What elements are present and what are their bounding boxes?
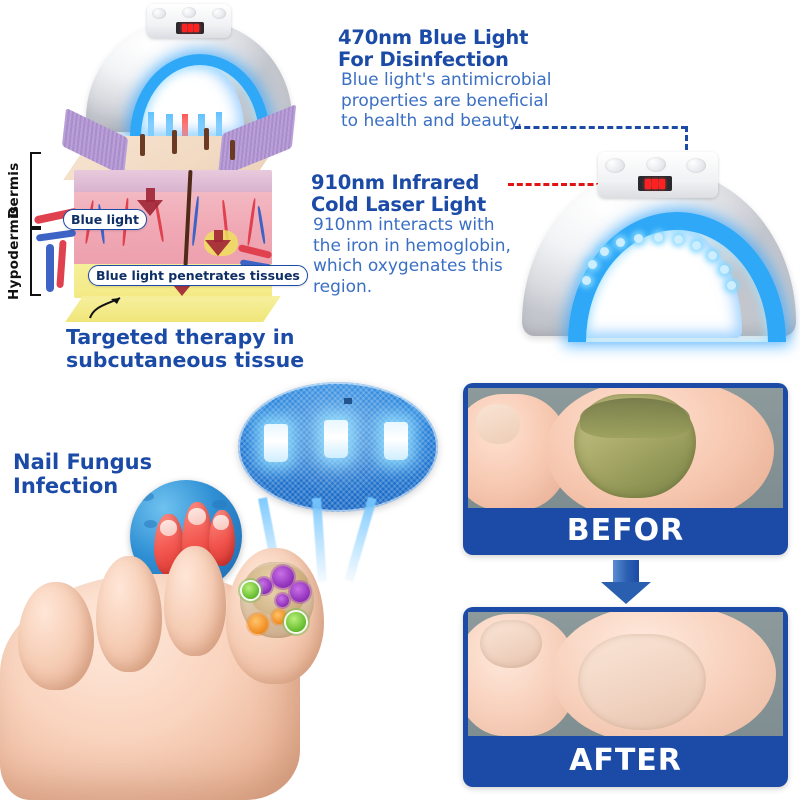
before-after-down-arrow bbox=[601, 560, 651, 604]
vessel-bundle bbox=[46, 244, 54, 292]
toe bbox=[96, 556, 162, 672]
led-emitter-magnifier bbox=[238, 382, 438, 512]
microbe-blob bbox=[138, 492, 154, 501]
hair-follicle bbox=[204, 128, 209, 150]
led-dot bbox=[708, 251, 717, 260]
device-button-3[interactable] bbox=[686, 158, 706, 173]
hair-follicle bbox=[172, 130, 177, 154]
led-dot bbox=[634, 234, 643, 243]
led-emitter bbox=[324, 420, 348, 458]
led-dot bbox=[588, 260, 597, 269]
microbe-purple bbox=[290, 582, 310, 602]
healthy-nail bbox=[578, 634, 706, 730]
before-result-card: BEFOR bbox=[463, 383, 788, 555]
led-dot bbox=[582, 276, 591, 285]
microbe-green bbox=[286, 612, 306, 632]
device-button-2[interactable] bbox=[646, 157, 666, 172]
feature-heading-910nm: 910nm Infrared Cold Laser Light bbox=[311, 172, 526, 216]
led-dot bbox=[616, 238, 625, 247]
penetration-arrow bbox=[205, 240, 231, 256]
led-emitter bbox=[384, 422, 408, 460]
layer-label-hypodermis: Hypodermis bbox=[6, 220, 22, 300]
subcutaneous-therapy-caption: Targeted therapy in subcutaneous tissue bbox=[66, 326, 316, 372]
device-timer-display bbox=[176, 22, 204, 34]
microbe-purple bbox=[276, 594, 289, 607]
dermis-bracket bbox=[30, 152, 41, 228]
feature-body-910nm: 910nm interacts with the iron in hemoglo… bbox=[313, 215, 513, 298]
led-dot bbox=[720, 265, 729, 274]
hypodermis-bracket bbox=[30, 228, 41, 296]
led-dot bbox=[654, 233, 663, 242]
callout-blue-light-penetrates: Blue light penetrates tissues bbox=[88, 265, 308, 286]
after-label: AFTER bbox=[463, 735, 788, 787]
magnifier-marker bbox=[344, 398, 352, 404]
device-button-2[interactable] bbox=[182, 7, 196, 18]
microbe-blob bbox=[212, 500, 227, 509]
microbe-orange bbox=[272, 610, 286, 624]
toe bbox=[18, 582, 94, 690]
microbe-orange bbox=[248, 614, 268, 634]
adjacent-nail bbox=[476, 404, 520, 444]
fungal-toenail-before-photo bbox=[468, 388, 783, 508]
microbe-purple bbox=[272, 566, 294, 588]
hair-follicle bbox=[230, 140, 235, 160]
arrow-head bbox=[601, 582, 651, 604]
microbe-green bbox=[242, 582, 259, 599]
leader-line-470nm-horizontal bbox=[515, 126, 687, 129]
after-result-card: AFTER bbox=[463, 607, 788, 787]
callout-blue-light: Blue light bbox=[63, 209, 147, 230]
device-button-1[interactable] bbox=[152, 8, 166, 19]
led-dot bbox=[692, 241, 701, 250]
nail-debris bbox=[580, 398, 690, 438]
led-dot bbox=[600, 247, 609, 256]
toe bbox=[164, 546, 226, 656]
led-emitter bbox=[264, 424, 288, 462]
device-button-1[interactable] bbox=[605, 158, 625, 173]
hair-follicle bbox=[140, 134, 145, 156]
led-dot bbox=[727, 281, 736, 290]
healthy-toenail-after-photo bbox=[468, 612, 783, 736]
led-nail-lamp-top-left bbox=[78, 2, 300, 134]
epidermis-layer bbox=[74, 170, 272, 192]
device-timer-display bbox=[638, 176, 672, 191]
led-nail-lamp-right bbox=[520, 148, 798, 338]
feature-body-470nm: Blue light's antimicrobial properties ar… bbox=[341, 70, 556, 132]
adjacent-nail bbox=[480, 620, 542, 668]
device-button-3[interactable] bbox=[212, 8, 226, 19]
arrow-stem bbox=[613, 560, 639, 582]
feature-heading-470nm: 470nm Blue Light For Disinfection bbox=[338, 27, 568, 71]
foot-illustration bbox=[0, 520, 440, 800]
led-dot bbox=[674, 235, 683, 244]
before-label: BEFOR bbox=[463, 507, 788, 555]
